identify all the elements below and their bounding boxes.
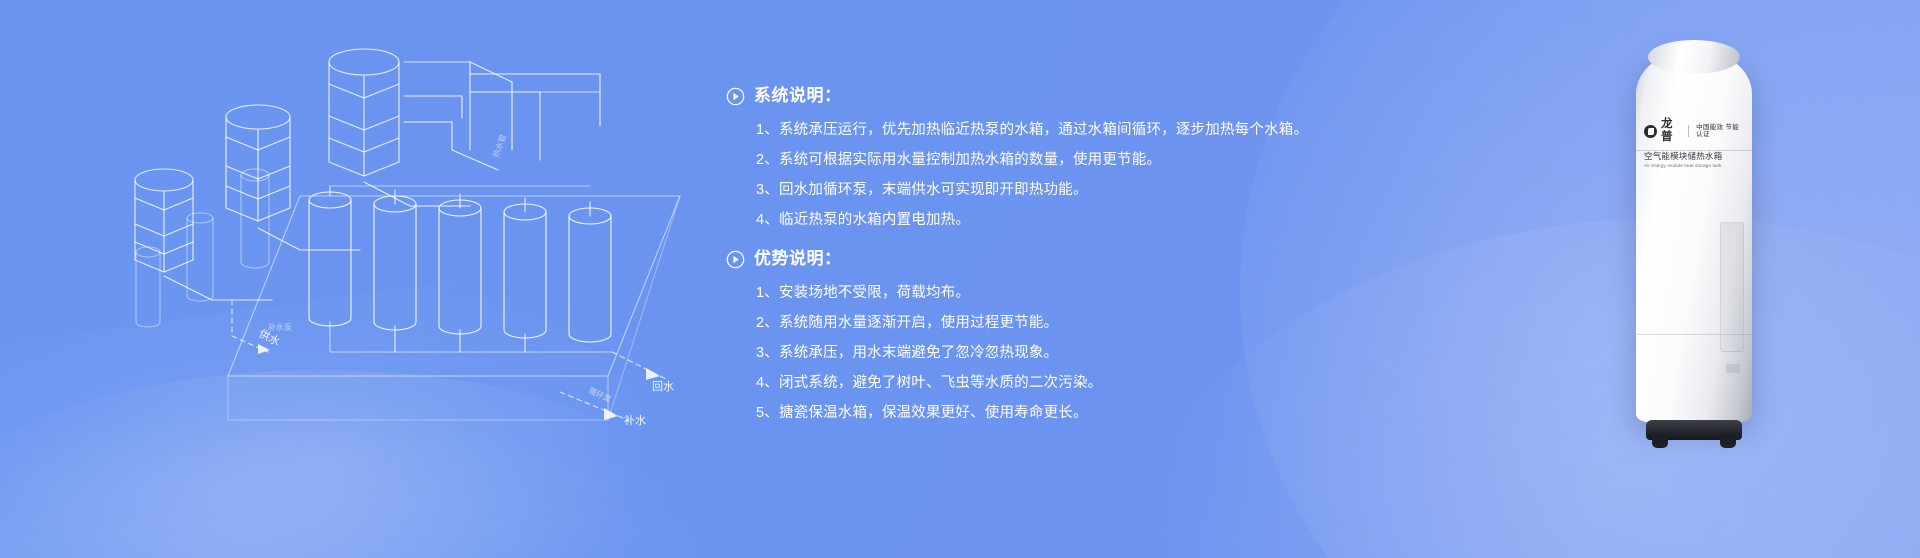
list-item: 1、系统承压运行，优先加热临近热泵的水箱，通过水箱间循环，逐步加热每个水箱。 [726, 115, 1326, 145]
diagram-label-return-water: 回水 [652, 380, 674, 393]
tank-foot [1720, 438, 1736, 448]
product-photo: 龙普 中国能效 节能认证 空气能模块储热水箱 Air energy module… [1630, 34, 1758, 458]
tank-rating-label [1726, 364, 1740, 373]
advantage-description-list: 1、安装场地不受限，荷载均布。 2、系统随用水量逐渐开启，使用过程更节能。 3、… [726, 278, 1326, 428]
section-header: 系统说明： [726, 86, 1326, 106]
section-system-description: 系统说明： 1、系统承压运行，优先加热临近热泵的水箱，通过水箱间循环，逐步加热每… [726, 86, 1326, 235]
section-header: 优势说明： [726, 249, 1326, 269]
brand-name: 龙普 [1661, 118, 1681, 144]
energy-efficiency-badge: 中国能效 节能认证 [1696, 124, 1744, 138]
tank-top-cap [1648, 40, 1740, 74]
list-item: 3、系统承压，用水末端避免了忽冷忽热现象。 [726, 338, 1326, 368]
product-branding: 龙普 中国能效 节能认证 空气能模块储热水箱 Air energy module… [1644, 118, 1744, 169]
diagram-label-hot-water-pipe: 热水管 [490, 133, 508, 159]
product-model-english: Air energy module heat storage tank [1644, 163, 1744, 169]
play-circle-icon [726, 250, 745, 269]
list-item: 2、系统随用水量逐渐开启，使用过程更节能。 [726, 308, 1326, 338]
tank-foot [1652, 438, 1668, 448]
play-circle-icon [726, 87, 745, 106]
brand-logo-icon [1644, 125, 1657, 138]
list-item: 2、系统可根据实际用水量控制加热水箱的数量，使用更节能。 [726, 145, 1326, 175]
system-diagram: 供水 回水 补水 循环泵 补水泵 热水管 [0, 0, 740, 558]
diagram-label-makeup-water: 补水 [624, 414, 646, 427]
diagram-label-makeup-pump: 补水泵 [268, 322, 292, 332]
product-model-label: 空气能模块储热水箱 [1644, 151, 1744, 161]
system-description-list: 1、系统承压运行，优先加热临近热泵的水箱，通过水箱间循环，逐步加热每个水箱。 2… [726, 115, 1326, 235]
diagram-label-circulating-pump: 循环泵 [587, 385, 613, 405]
tank-control-panel [1720, 222, 1744, 352]
list-item: 4、临近热泵的水箱内置电加热。 [726, 205, 1326, 235]
decorative-wave-right-upper [1240, 0, 1920, 558]
list-item: 5、搪瓷保温水箱，保温效果更好、使用寿命更长。 [726, 398, 1326, 428]
brand-row: 龙普 中国能效 节能认证 [1644, 118, 1744, 144]
list-item: 3、回水加循环泵，末端供水可实现即开即热功能。 [726, 175, 1326, 205]
section-title: 优势说明： [754, 249, 842, 269]
brand-divider [1688, 125, 1689, 137]
section-advantage-description: 优势说明： 1、安装场地不受限，荷载均布。 2、系统随用水量逐渐开启，使用过程更… [726, 249, 1326, 428]
section-title: 系统说明： [754, 86, 842, 106]
section-spacer [726, 239, 1326, 249]
tank-base [1646, 420, 1742, 440]
list-item: 4、闭式系统，避免了树叶、飞虫等水质的二次污染。 [726, 368, 1326, 398]
list-item: 1、安装场地不受限，荷载均布。 [726, 278, 1326, 308]
product-banner: 供水 回水 补水 循环泵 补水泵 热水管 系统说明： 1、系统承压运行，优先加热… [0, 0, 1920, 558]
description-content: 系统说明： 1、系统承压运行，优先加热临近热泵的水箱，通过水箱间循环，逐步加热每… [726, 86, 1326, 432]
